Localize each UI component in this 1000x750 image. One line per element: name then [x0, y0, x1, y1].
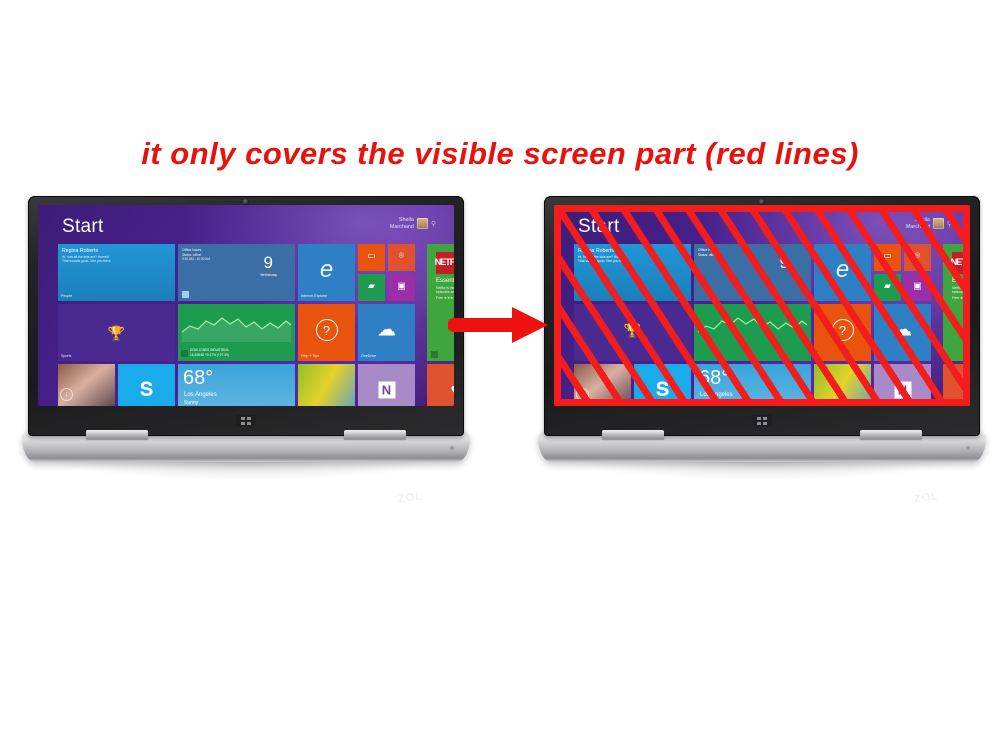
- screen-left: Start Sheila Marchand ⚲ Regina Roberts H…: [38, 205, 454, 406]
- hinge-left: [602, 430, 664, 439]
- heart-icon: ♥: [450, 382, 454, 399]
- tile-health-fitness[interactable]: ♥: [943, 364, 970, 406]
- tile-finance[interactable]: DOW JONES INDUSTRIAL 16,458.56 +0.17% (+…: [178, 304, 295, 361]
- trophy-icon: 🏆: [624, 323, 641, 337]
- screen-right: Start Sheila Marchand ⚲ Regina Roberts H…: [554, 205, 970, 406]
- windows-start-screen: Start Sheila Marchand ⚲ Regina Roberts H…: [38, 205, 454, 406]
- windows-button[interactable]: [752, 415, 772, 427]
- hinge-right: [344, 430, 406, 439]
- trophy-icon: 🏆: [58, 304, 175, 361]
- skype-icon: 𝐒: [140, 380, 154, 400]
- onenote-icon: N: [894, 382, 911, 399]
- finance-icon: [181, 350, 188, 357]
- user-name: Sheila Marchand: [906, 217, 930, 231]
- camera-icon: ▣: [913, 282, 922, 291]
- question-icon: ?: [832, 319, 854, 341]
- tile-music[interactable]: ▭: [358, 244, 385, 271]
- cloud-icon: ☁: [893, 321, 912, 340]
- tile-group-2: NETFLIX Essential App Netflix is the wor…: [943, 244, 970, 406]
- search-icon[interactable]: ⚲: [431, 220, 436, 228]
- tile-weather[interactable]: 68° Los Angeles Sunny Today 83/62° Mostl…: [178, 364, 295, 406]
- tile-mail[interactable]: Office hours Status: offline 9: [694, 244, 811, 301]
- camera-icon: ▣: [397, 282, 406, 291]
- start-heading: Start: [578, 216, 620, 238]
- tile-onedrive[interactable]: ☁: [874, 304, 931, 361]
- tile-onenote[interactable]: N OneNote 2013: [358, 364, 415, 406]
- tile-headset[interactable]: ⌾: [904, 244, 931, 271]
- windows-button[interactable]: [236, 415, 256, 427]
- tile-finance[interactable]: [694, 304, 811, 361]
- tile-group-1: Regina Roberts Hi, how all the kids are?…: [574, 244, 931, 406]
- user-account[interactable]: Sheila Marchand ⚲: [906, 217, 952, 231]
- windows-start-screen: Start Sheila Marchand ⚲ Regina Roberts H…: [554, 205, 970, 406]
- tile-sports[interactable]: 🏆 Sports: [58, 304, 175, 361]
- watermark-left: ZOL: [397, 491, 423, 506]
- tile-onedrive[interactable]: ☁ OneDrive: [358, 304, 415, 361]
- tile-weather[interactable]: 68° Los Angeles Sunny: [694, 364, 811, 406]
- tile-people[interactable]: Regina Roberts Hi, how all the kids are?…: [58, 244, 175, 301]
- gamepad-icon: ▰: [368, 282, 375, 291]
- search-icon[interactable]: ⚲: [947, 220, 952, 228]
- avatar[interactable]: [933, 218, 944, 229]
- tile-grid: Regina Roberts Hi, how all the kids are?…: [58, 244, 454, 406]
- tile-internet-explorer[interactable]: e: [814, 244, 871, 301]
- onenote-icon: N: [378, 382, 395, 399]
- user-name: Sheila Marchand: [390, 217, 414, 231]
- tile-bing[interactable]: [814, 364, 871, 406]
- internet-explorer-icon: e: [836, 258, 849, 282]
- watermark-right: ZOL: [913, 491, 939, 506]
- laptop-lid: Start Sheila Marchand ⚲ Regina Roberts H…: [28, 196, 464, 436]
- avatar[interactable]: [417, 218, 428, 229]
- tile-headset[interactable]: ⌾: [388, 244, 415, 271]
- tile-games[interactable]: ▰: [358, 274, 385, 301]
- down-arrow-icon[interactable]: ↓: [60, 388, 73, 401]
- stock-chart: [178, 312, 295, 342]
- heart-icon: ♥: [966, 382, 970, 399]
- tile-sports[interactable]: 🏆: [574, 304, 691, 361]
- store-icon: [431, 351, 438, 358]
- tile-group-1: Regina Roberts Hi, how all the kids are?…: [58, 244, 415, 406]
- headset-icon: ⌾: [915, 252, 920, 261]
- start-heading: Start: [62, 216, 104, 238]
- user-account[interactable]: Sheila Marchand ⚲: [390, 217, 436, 231]
- calendar-icon: [182, 291, 189, 298]
- tile-games[interactable]: ▰: [874, 274, 901, 301]
- tile-internet-explorer[interactable]: e Internet Explorer: [298, 244, 355, 301]
- tile-people[interactable]: Regina Roberts Hi, how all the kids are?…: [574, 244, 691, 301]
- page-title: it only covers the visible screen part (…: [0, 136, 1000, 172]
- stock-chart: [694, 312, 811, 342]
- music-icon: ▭: [367, 252, 376, 261]
- cloud-icon: ☁: [377, 321, 396, 340]
- laptop-with-red-line-overlay: Start Sheila Marchand ⚲ Regina Roberts H…: [538, 196, 986, 496]
- headset-icon: ⌾: [399, 252, 404, 261]
- tile-camera[interactable]: ▣: [904, 274, 931, 301]
- laptop-lid: Start Sheila Marchand ⚲ Regina Roberts H…: [544, 196, 980, 436]
- laptop-without-overlay: Start Sheila Marchand ⚲ Regina Roberts H…: [22, 196, 470, 496]
- tile-camera[interactable]: ▣: [388, 274, 415, 301]
- netflix-thumbnail: NETFLIX: [436, 252, 454, 274]
- tile-mail[interactable]: Office hours Status: offline 9:30 AM - 1…: [178, 244, 295, 301]
- internet-explorer-icon: e: [320, 258, 333, 282]
- hinge-left: [86, 430, 148, 439]
- gamepad-icon: ▰: [884, 282, 891, 291]
- tile-help-tips[interactable]: ? Help + Tips: [298, 304, 355, 361]
- tile-grid: Regina Roberts Hi, how all the kids are?…: [574, 244, 970, 406]
- right-arrow-icon: [448, 300, 558, 350]
- tile-skype[interactable]: 𝐒: [634, 364, 691, 406]
- tile-skype[interactable]: 𝐒 Skype: [118, 364, 175, 406]
- music-icon: ▭: [883, 252, 892, 261]
- tile-bing[interactable]: Bing: [298, 364, 355, 406]
- hinge-right: [860, 430, 922, 439]
- skype-icon: 𝐒: [656, 380, 670, 400]
- tile-onenote[interactable]: N: [874, 364, 931, 406]
- question-icon: ?: [316, 319, 338, 341]
- tile-health-fitness[interactable]: ♥ Health & Fitness: [427, 364, 454, 406]
- tile-help-tips[interactable]: ?: [814, 304, 871, 361]
- tile-music[interactable]: ▭: [874, 244, 901, 271]
- netflix-thumbnail: NETFLIX: [952, 252, 970, 274]
- down-arrow-icon[interactable]: ↓: [576, 388, 589, 401]
- tile-essential-app[interactable]: NETFLIX Essential App Netflix is the wor…: [943, 244, 970, 361]
